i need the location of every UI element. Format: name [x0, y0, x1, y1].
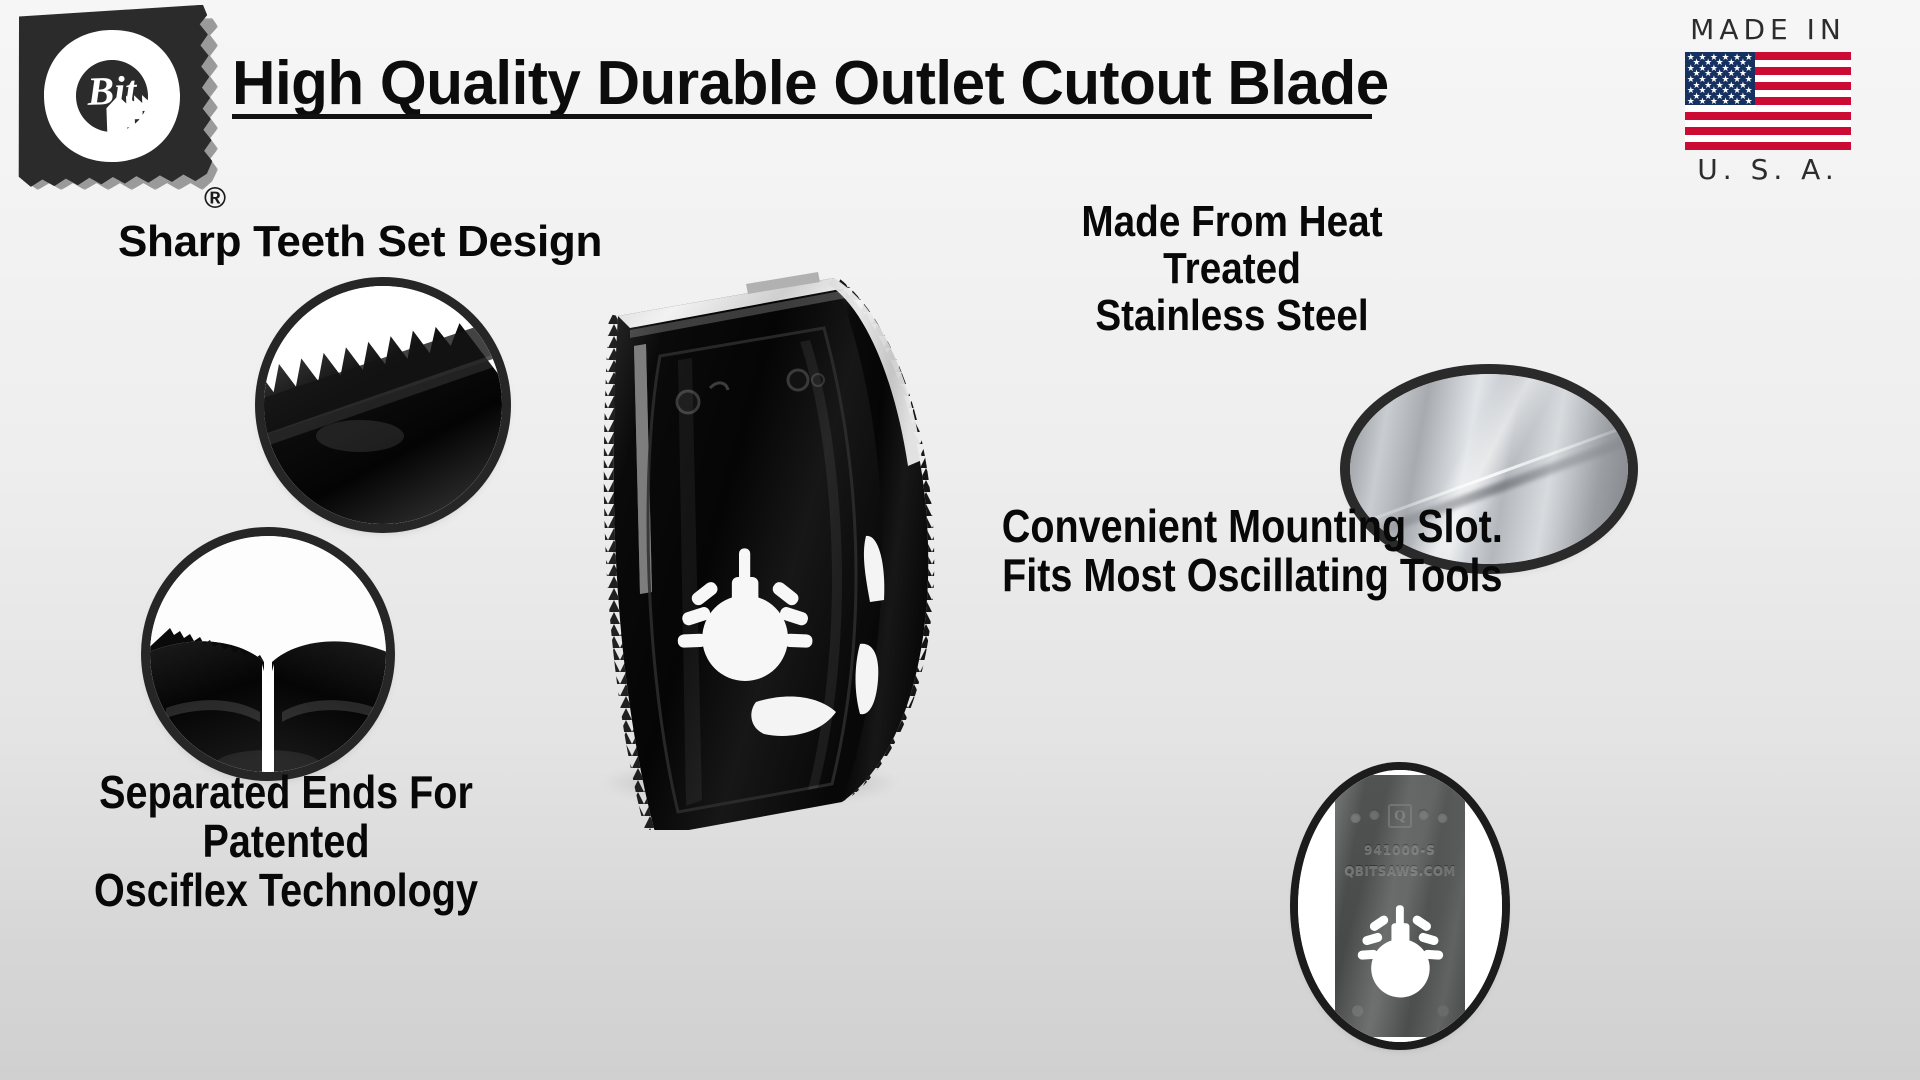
flag-star-icon: ★: [1687, 98, 1694, 104]
callout-slot-line2: Fits Most Oscillating Tools: [990, 551, 1515, 600]
flag-star-icon: ★: [1698, 98, 1705, 104]
teeth-closeup-inset: [264, 286, 502, 524]
callout-osciflex-line2: Osciflex Technology: [28, 866, 544, 915]
brand-logo: Bit ®: [8, 6, 230, 201]
callout-mounting-slot: Convenient Mounting Slot. Fits Most Osci…: [990, 502, 1515, 600]
separated-ends-closeup-inset: [150, 536, 386, 772]
outlet-cutout-blade-graphic: [560, 240, 980, 830]
flag-star-icon: ★: [1721, 98, 1728, 104]
flag-star-icon: ★: [1745, 98, 1752, 104]
callout-osciflex: Separated Ends For Patented Osciflex Tec…: [28, 768, 544, 916]
mounting-slot-closeup-inset: Q 941000-S QBITSAWS.COM: [1298, 770, 1502, 1042]
registered-trademark-symbol: ®: [204, 184, 226, 214]
usa-flag-icon: ★★★★★★★★★★★★★★★★★★★★★★★★★★★★★★★★★★★★★★★★…: [1685, 52, 1851, 150]
callout-stainless-steel: Made From Heat Treated Stainless Steel: [1012, 198, 1452, 339]
flag-canton: ★★★★★★★★★★★★★★★★★★★★★★★★★★★★★★★★★★★★★★★★…: [1685, 52, 1755, 105]
flag-star-icon: ★: [1710, 98, 1717, 104]
flag-star-icon: ★: [1733, 98, 1740, 104]
callout-slot-line1: Convenient Mounting Slot.: [990, 502, 1515, 551]
product-photo: [560, 240, 980, 830]
page-title: High Quality Durable Outlet Cutout Blade: [232, 48, 1344, 119]
callout-sharp-teeth-text: Sharp Teeth Set Design: [118, 218, 602, 265]
callout-steel-line2: Stainless Steel: [1012, 292, 1452, 339]
usa-label: U. S. A.: [1678, 156, 1858, 184]
made-in-usa-badge: MADE IN ★★★★★★★★★★★★★★★★★★★★★★★★★★★★★★★★…: [1678, 16, 1858, 188]
made-in-label: MADE IN: [1678, 16, 1858, 44]
callout-steel-line1: Made From Heat Treated: [1012, 198, 1452, 292]
infographic-canvas: Bit ® High Quality Durable Outlet Cutout…: [0, 0, 1920, 1080]
q-bit-logo-icon: Bit: [11, 5, 213, 188]
blade-shank: Q 941000-S QBITSAWS.COM: [1335, 775, 1466, 1036]
title-underline: [232, 114, 1372, 119]
callout-osciflex-line1: Separated Ends For Patented: [28, 768, 544, 866]
